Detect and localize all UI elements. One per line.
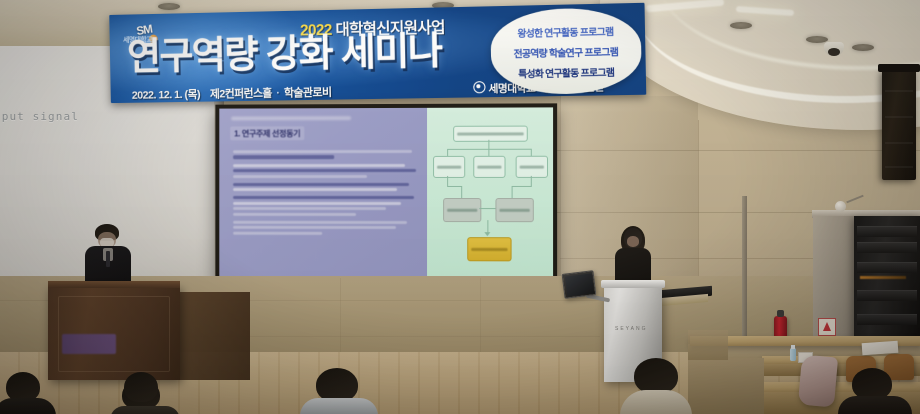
person-necktie: [106, 251, 110, 267]
hand-sanitizer-icon: [790, 348, 796, 361]
podium-brand-label: SEYANG: [615, 326, 647, 332]
slide-bullet-group: [233, 164, 420, 178]
equipment-rack: [854, 216, 920, 346]
flow-gray-box-2: [495, 198, 533, 222]
monitor-screen: [564, 273, 593, 296]
flow-middle-box-3: [515, 156, 547, 178]
speaker-mount: [878, 64, 920, 72]
flow-middle-box-2: [473, 156, 505, 178]
downlight-icon: [158, 3, 180, 10]
flow-top-box: [453, 126, 528, 142]
slide-title: 1. 연구주제 선정동기: [230, 126, 304, 140]
slide-bullet-group: [233, 150, 420, 159]
event-banner: SM 세명대학교 2022 대학혁신지원사업 연구역량 강화 세미나 2022.…: [109, 3, 646, 103]
audience-member: [0, 372, 62, 414]
slide-bullet-group: [233, 221, 420, 235]
banner-date-venue: 2022. 12. 1. (목) 제2컨퍼런스홀 · 학술관로비: [132, 84, 332, 103]
program-item-2: 전공역량 학술연구 프로그램: [491, 44, 642, 61]
projection-screen: 1. 연구주제 선정동기: [215, 103, 557, 282]
downlight-icon: [730, 22, 752, 29]
flow-middle-box-1: [433, 156, 465, 178]
banner-venue: 제2컨퍼런스홀: [210, 88, 272, 101]
flow-result-box: [467, 237, 511, 261]
downlight-icon: [852, 44, 874, 51]
rack-lamp-icon: [835, 201, 846, 212]
documents-on-desk: [862, 341, 899, 355]
audience-member: [118, 372, 178, 414]
lectern-side-panel: [178, 292, 250, 380]
audience-member: [616, 358, 696, 414]
slide-eyebrow-line: [231, 116, 351, 120]
organizer-mark-icon: [473, 81, 485, 93]
lecture-hall-photo: SM 세명대학교 2022 대학혁신지원사업 연구역량 강화 세미나 2022.…: [0, 0, 920, 414]
door-frame: [742, 196, 747, 356]
stage-wall-seam: [340, 278, 341, 352]
stair-riser: [688, 358, 764, 414]
slide-bullet-list: [233, 150, 420, 240]
wooden-lectern: [48, 286, 180, 380]
program-item-3: 특성화 연구활동 프로그램: [491, 64, 642, 81]
audience-member: [838, 368, 912, 414]
emergency-sign-icon: [818, 318, 836, 336]
banner-venue-separator: ·: [276, 88, 279, 100]
lectern-emblem: [62, 334, 116, 354]
stage-wall-seam: [480, 278, 481, 352]
podium-monitor: [562, 270, 597, 299]
flow-gray-box-1: [443, 198, 481, 222]
audience-member: [300, 368, 378, 414]
banner-program-oval: 왕성한 연구활동 프로그램 전공역량 학술연구 프로그램 특성화 연구활동 프로…: [490, 7, 642, 95]
person-face: [627, 236, 639, 247]
banner-date: 2022. 12. 1. (목): [132, 89, 200, 102]
line-array-speaker-icon: [882, 70, 916, 180]
banner-venue-secondary: 학술관로비: [284, 87, 332, 100]
slide-left-panel: 1. 연구주제 선정동기: [219, 108, 426, 278]
coat-on-chair: [798, 355, 838, 408]
stair-riser: [688, 330, 728, 360]
wall-seam: [698, 120, 699, 282]
slide-right-panel: [427, 107, 553, 278]
program-item-1: 왕성한 연구활동 프로그램: [490, 23, 641, 40]
no-input-signal-text: nput signal: [0, 110, 79, 123]
banner-title: 연구역량 강화 세미나: [127, 29, 544, 77]
projected-slide: 1. 연구주제 선정동기: [219, 107, 553, 278]
slide-bullet-group: [233, 183, 420, 192]
slide-bullet-group: [233, 196, 420, 216]
